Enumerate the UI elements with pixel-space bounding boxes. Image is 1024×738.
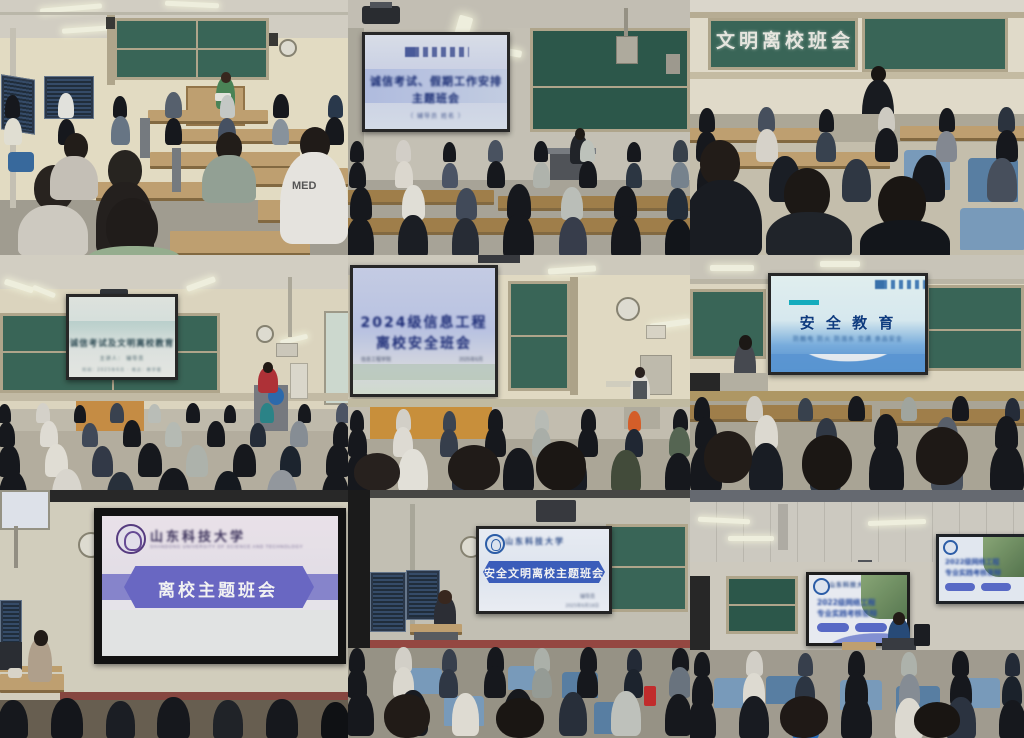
photo-tile-top-left[interactable]: MED <box>0 0 348 255</box>
photo-tile-bottom-center[interactable]: 山东科技大学 安全文明离校主题班会 辅导员 2025年6月18日 <box>348 490 690 738</box>
slide-title-line-1: 2024级信息工程 <box>353 312 495 332</box>
slide-footnote-1: 辅导员 <box>580 593 595 600</box>
slide-footnote-right: 2025年6月 <box>459 356 483 363</box>
monitor-title-line-1: 2022级网络工程 <box>945 557 999 567</box>
photo-tile-bottom-right[interactable]: 山东科技大学 2022级网络工程 专业实践考核答辩 2022级网络工程 专业实践… <box>690 490 1024 738</box>
university-logo-icon <box>943 540 958 555</box>
projection-screen: 2024级信息工程 离校安全班会 信息工程学院 2025年6月 <box>350 265 498 397</box>
monitor-button-1 <box>945 583 975 591</box>
monitor-title-line-2: 专业实践考核答辩 <box>945 568 1001 578</box>
slide-university-name-cn: 山东科技大学 <box>150 526 246 545</box>
water-bottle <box>644 686 656 706</box>
slide-title: 诚信考试及文明离校教育 <box>69 337 175 349</box>
slide-title-line-1: 诚信考试、假期工作安排 <box>365 73 507 89</box>
slide-subtitle: （ 辅导员 姓名 ） <box>365 111 507 120</box>
photo-tile-top-center[interactable]: 诚信考试、假期工作安排 主题班会 （ 辅导员 姓名 ） <box>348 0 690 255</box>
slide-title-line-2: 离校安全班会 <box>353 333 495 353</box>
slide-footnote-2: 2025年6月18日 <box>565 603 599 609</box>
projection-screen: 诚信考试、假期工作安排 主题班会 （ 辅导员 姓名 ） <box>362 32 510 132</box>
photo-tile-bottom-left[interactable]: 山东科技大学 SHANDONG UNIVERSITY OF SCIENCE AN… <box>0 490 348 738</box>
secondary-screen <box>0 490 50 530</box>
projection-screen: 安 全 教 育 防触电 防火 防溺水 交通 食品安全 <box>768 273 928 375</box>
photo-tile-middle-right[interactable]: 安 全 教 育 防触电 防火 防溺水 交通 食品安全 <box>690 255 1024 490</box>
wall-monitor: 2022级网络工程 专业实践考核答辩 <box>936 534 1024 604</box>
slide-subtitle: 防触电 防火 防溺水 交通 食品安全 <box>771 334 925 343</box>
photo-tile-top-right[interactable]: 文明离校班会 <box>690 0 1024 255</box>
wall-clock-icon <box>256 325 274 343</box>
projection-screen: 诚信考试及文明离校教育 主讲人： 辅导员 时间：2025年6月 · 地点：教学楼 <box>66 294 178 380</box>
slide-title-line-1: 2022级网络工程 <box>817 597 875 608</box>
photo-collage: MED 诚信考试、假期工作安排 主题班会 （ 辅导员 姓名 ） <box>0 0 1024 738</box>
slide-footnote-left: 信息工程学院 <box>361 356 391 363</box>
monitor-screen <box>914 624 930 646</box>
photo-tile-middle-left[interactable]: 诚信考试及文明离校教育 主讲人： 辅导员 时间：2025年6月 · 地点：教学楼 <box>0 255 348 490</box>
slide-title: 安全文明离校主题班会 <box>479 565 609 581</box>
university-logo-icon <box>116 524 146 554</box>
wall-clock-icon <box>616 297 640 321</box>
slide-university-name-cn: 山东科技大学 <box>505 536 565 547</box>
slide-title: 离校主题班会 <box>102 576 334 601</box>
slide-university-logo <box>405 47 469 57</box>
university-logo-icon <box>485 534 505 554</box>
slide-title-line-2: 主题班会 <box>365 90 507 106</box>
wall-clock-icon <box>279 39 297 57</box>
blackboard <box>862 16 1008 72</box>
university-logo-icon <box>813 578 830 595</box>
student <box>280 152 348 244</box>
slide-title-line-2: 专业实践考核答辩 <box>817 608 877 619</box>
slide-university-logo <box>875 280 927 289</box>
blackboard-chalk-text: 文明离校班会 <box>716 26 854 53</box>
slide-title: 安 全 教 育 <box>771 312 925 333</box>
monitor-button-2 <box>981 583 1011 591</box>
projection-screen: 山东科技大学 安全文明离校主题班会 辅导员 2025年6月18日 <box>476 526 612 614</box>
slide-university-name-en: SHANDONG UNIVERSITY OF SCIENCE AND TECHN… <box>150 544 303 549</box>
projection-screen: 山东科技大学 SHANDONG UNIVERSITY OF SCIENCE AN… <box>94 508 346 664</box>
slide-footnote: 时间：2025年6月 · 地点：教学楼 <box>69 367 175 373</box>
photo-tile-middle-center[interactable]: 2024级信息工程 离校安全班会 信息工程学院 2025年6月 <box>348 255 690 490</box>
slide-subtitle: 主讲人： 辅导员 <box>69 355 175 362</box>
